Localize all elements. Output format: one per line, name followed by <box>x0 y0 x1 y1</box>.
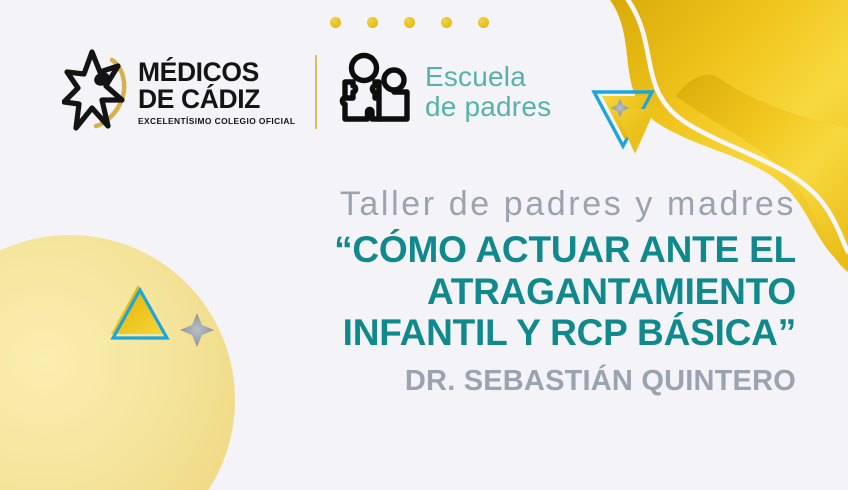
dot-4 <box>441 17 452 28</box>
logo-bar: MÉDICOS DE CÁDIZ EXCELENTÍSIMO COLEGIO O… <box>62 46 551 138</box>
escuela-logo: Escuela de padres <box>335 51 551 133</box>
medicos-wordmark: MÉDICOS DE CÁDIZ EXCELENTÍSIMO COLEGIO O… <box>138 59 295 125</box>
title-line-3: INFANTIL Y RCP BÁSICA” <box>176 312 796 353</box>
medicos-line-2: DE CÁDIZ <box>138 86 295 113</box>
escuela-line-2: de padres <box>425 92 551 122</box>
escuela-line-1: Escuela <box>425 62 551 92</box>
title-line-2: ATRAGANTAMIENTO <box>176 271 796 312</box>
dot-2 <box>367 17 378 28</box>
poster-canvas: MÉDICOS DE CÁDIZ EXCELENTÍSIMO COLEGIO O… <box>0 0 848 490</box>
headline-block: Taller de padres y madres “CÓMO ACTUAR A… <box>176 186 796 398</box>
medicos-line-1: MÉDICOS <box>138 59 295 86</box>
logo-divider <box>315 55 317 129</box>
dot-3 <box>404 17 415 28</box>
kicker-text: Taller de padres y madres <box>176 186 796 223</box>
title-line-1: “CÓMO ACTUAR ANTE EL <box>176 229 796 270</box>
escuela-wordmark: Escuela de padres <box>425 62 551 121</box>
triangle-cluster-top-right <box>594 92 655 154</box>
star-burst-icon <box>62 46 134 138</box>
medicos-subtitle: EXCELENTÍSIMO COLEGIO OFICIAL <box>138 117 295 125</box>
dot-1 <box>330 17 341 28</box>
main-title: “CÓMO ACTUAR ANTE EL ATRAGANTAMIENTO INF… <box>176 229 796 353</box>
speaker-name: DR. SEBASTIÁN QUINTERO <box>176 366 796 398</box>
dot-5 <box>478 17 489 28</box>
decorative-dot-row <box>330 17 489 28</box>
puzzle-people-icon <box>335 51 413 133</box>
